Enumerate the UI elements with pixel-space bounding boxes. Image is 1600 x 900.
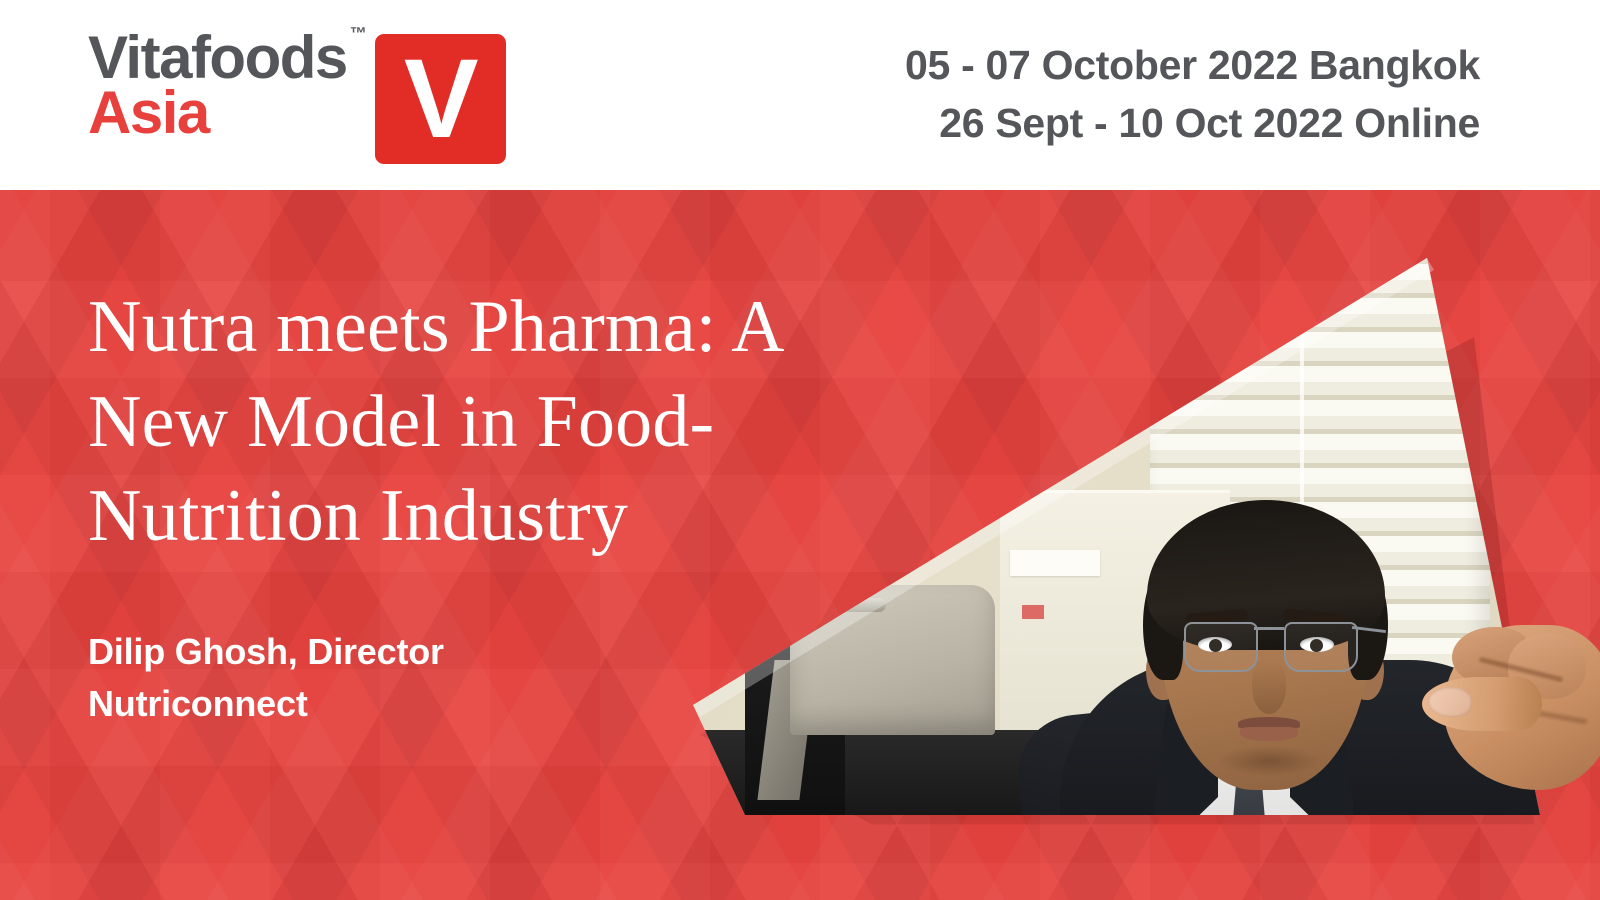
session-copy: Nutra meets Pharma: A New Model in Food-…: [88, 280, 848, 730]
logo-mark-letter: V: [375, 43, 506, 155]
session-title: Nutra meets Pharma: A New Model in Food-…: [88, 280, 848, 564]
speaker-company: Nutriconnect: [88, 678, 848, 730]
event-date-online: 26 Sept - 10 Oct 2022 Online: [905, 94, 1480, 152]
event-dates: 05 - 07 October 2022 Bangkok 26 Sept - 1…: [905, 36, 1480, 152]
hand-holding-photo: [1422, 615, 1600, 800]
event-date-onsite: 05 - 07 October 2022 Bangkok: [905, 36, 1480, 94]
banner-header: Vitafoods™ Asia V 05 - 07 October 2022 B…: [0, 0, 1600, 190]
vitafoods-v-mark-icon: V: [375, 34, 506, 164]
photo-eyeglasses-right-lens: [1284, 622, 1358, 672]
logo-brand-text: Vitafoods: [88, 30, 347, 85]
vitafoods-asia-logo[interactable]: Vitafoods™ Asia V: [88, 26, 506, 164]
photo-cabinet-label: [1010, 550, 1100, 576]
photo-chin-shading: [1218, 746, 1320, 776]
photo-nose: [1252, 660, 1286, 714]
logo-region-text: Asia: [88, 85, 347, 140]
photo-lower-lip: [1240, 727, 1298, 741]
photo-cabinet-sticker: [1022, 605, 1044, 619]
speaker-credit: Dilip Ghosh, Director Nutriconnect: [88, 626, 848, 730]
trademark-icon: ™: [350, 26, 367, 42]
hand-thumbnail: [1428, 687, 1472, 717]
session-banner: Vitafoods™ Asia V 05 - 07 October 2022 B…: [0, 0, 1600, 900]
speaker-name-and-role: Dilip Ghosh, Director: [88, 626, 848, 678]
logo-wordmark: Vitafoods™ Asia: [88, 26, 347, 140]
photo-eyeglasses-left-lens: [1184, 622, 1258, 672]
photo-eyeglasses-bridge: [1254, 627, 1284, 630]
logo-wordmark-line-1: Vitafoods™: [88, 30, 347, 85]
banner-body: Nutra meets Pharma: A New Model in Food-…: [0, 190, 1600, 900]
